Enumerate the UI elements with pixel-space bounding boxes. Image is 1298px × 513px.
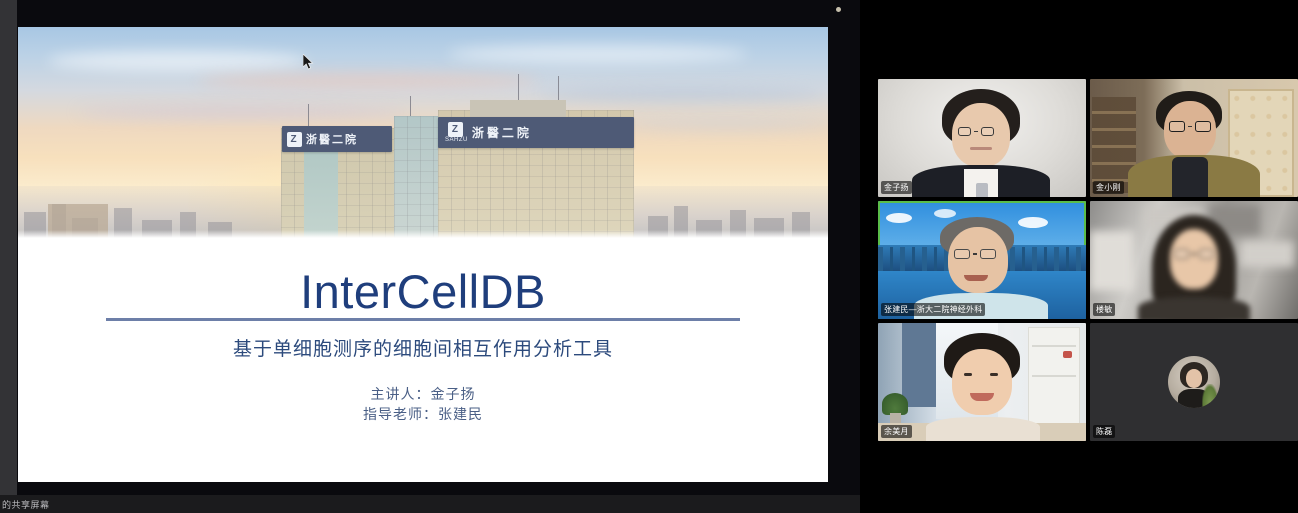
participant-name-tag: 楼敏 (1093, 303, 1115, 316)
shared-screen-surface[interactable]: Z 浙醫二院 Z SAHZU 浙醫二院 InterCellDB 基于单细胞测序的… (17, 0, 860, 495)
slide-subtitle: 基于单细胞测序的细胞间相互作用分析工具 (18, 334, 828, 361)
sahzu-logo-icon: Z (448, 122, 463, 137)
participant-name-tag: 陈磊 (1093, 425, 1115, 438)
participant-name-tag: 张建民—浙大二院神经外科 (881, 303, 985, 316)
glass-tower (394, 116, 438, 238)
cloud (618, 119, 828, 131)
participant-grid-panel: 金子扬 金小刚 (860, 0, 1298, 513)
slide-divider-rule (106, 318, 740, 321)
screen-indicator-dot (836, 7, 841, 12)
slide-presenter-line: 主讲人：金子扬 (18, 384, 828, 404)
share-status-bar: 的共享屏幕 (0, 495, 860, 513)
participant-tile[interactable]: 楼敏 (1090, 201, 1298, 319)
participant-name-tag: 金小刚 (1093, 181, 1124, 194)
slide-credits: 主讲人：金子扬 指导老师：张建民 (18, 384, 828, 424)
hospital-sign-left: Z 浙醫二院 (282, 126, 392, 152)
presentation-slide: Z 浙醫二院 Z SAHZU 浙醫二院 InterCellDB 基于单细胞测序的… (18, 27, 828, 482)
sahzu-sublabel: SAHZU (445, 137, 468, 143)
participant-name-tag: 余美月 (881, 425, 912, 438)
participant-tile[interactable]: 金子扬 (878, 79, 1086, 197)
participant-tile[interactable]: 余美月 (878, 323, 1086, 441)
slide-header-photo: Z 浙醫二院 Z SAHZU 浙醫二院 (18, 27, 828, 238)
meeting-window: Z 浙醫二院 Z SAHZU 浙醫二院 InterCellDB 基于单细胞测序的… (0, 0, 1298, 513)
slide-advisor-line: 指导老师：张建民 (18, 404, 828, 424)
hospital-sign-left-text: 浙醫二院 (306, 131, 358, 147)
slide-title: InterCellDB (18, 264, 828, 319)
cloud (538, 87, 828, 101)
shared-screen-region[interactable]: Z 浙醫二院 Z SAHZU 浙醫二院 InterCellDB 基于单细胞测序的… (0, 0, 860, 513)
sahzu-logo-icon: Z (287, 132, 302, 147)
cloud (48, 51, 308, 71)
shared-screen-left-rail (0, 0, 17, 495)
participant-tile[interactable]: 陈磊 (1090, 323, 1298, 441)
participant-name-tag: 金子扬 (881, 181, 912, 194)
cloud (78, 105, 408, 119)
cloud (198, 73, 538, 89)
participant-tile[interactable]: 张建民—浙大二院神经外科 (878, 201, 1086, 319)
cloud (448, 45, 748, 63)
participant-tile[interactable]: 金小刚 (1090, 79, 1298, 197)
hospital-sign-right: Z SAHZU 浙醫二院 (438, 117, 634, 148)
avatar (1168, 356, 1220, 408)
hospital-sign-right-text: 浙醫二院 (472, 124, 532, 141)
share-status-text: 的共享屏幕 (2, 498, 50, 511)
participant-tile-grid: 金子扬 金小刚 (860, 79, 1298, 458)
